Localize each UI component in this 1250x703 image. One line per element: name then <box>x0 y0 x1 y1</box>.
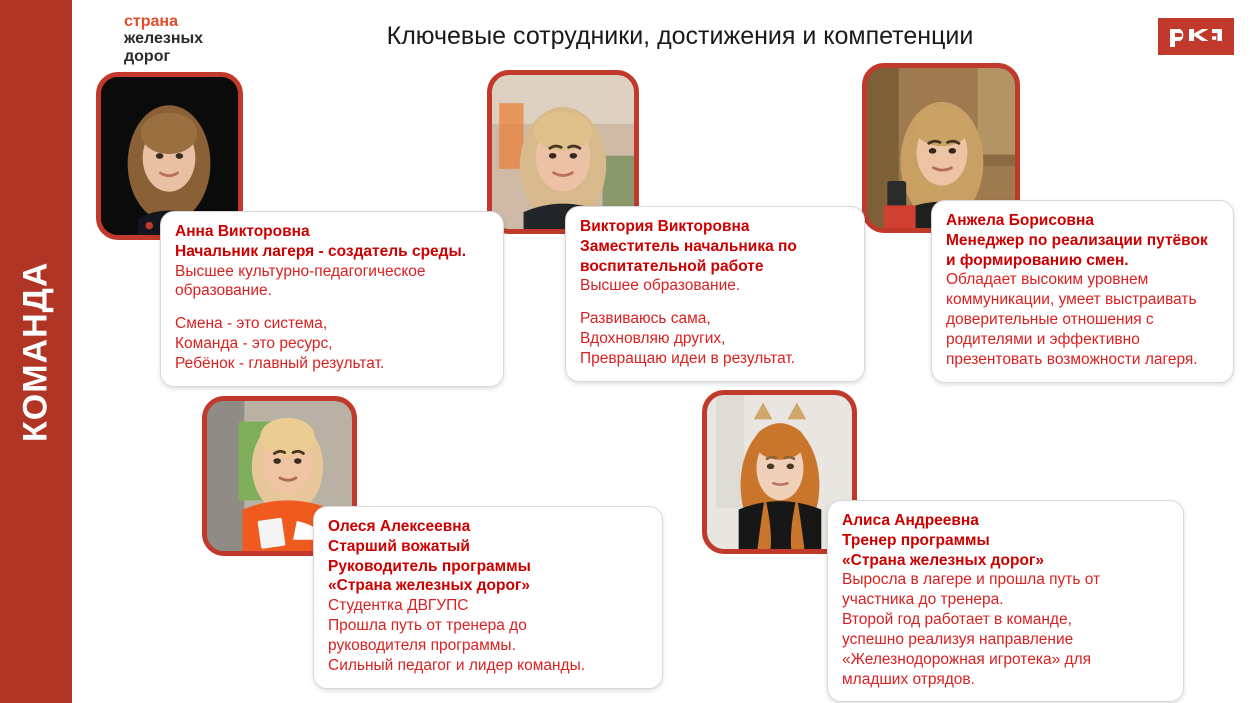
program-logo-line-3: дорог <box>124 48 203 65</box>
card-body-line: Ребёнок - главный результат. <box>175 354 489 374</box>
card-body-line: руководителя программы. <box>328 636 648 656</box>
card-body-line: коммуникации, умеет выстраивать <box>946 290 1219 310</box>
person-card-anna: Анна ВикторовнаНачальник лагеря - создат… <box>160 211 504 387</box>
card-body-line: родителями и эффективно <box>946 330 1219 350</box>
card-body-line: Высшее образование. <box>580 276 850 296</box>
card-body-line: младших отрядов. <box>842 670 1169 690</box>
presentation-slide: КОМАНДА страна железных дорог Ключевые с… <box>0 0 1250 703</box>
card-heading-line: Руководитель программы <box>328 557 648 577</box>
card-body-line: Развиваюсь сама, <box>580 309 850 329</box>
card-heading-line: Алиса Андреевна <box>842 511 1169 531</box>
card-body-line: Смена - это система, <box>175 314 489 334</box>
card-body-line: Студентка ДВГУПС <box>328 596 648 616</box>
card-body-line: Сильный педагог и лидер команды. <box>328 656 648 676</box>
card-line-spacer <box>175 301 489 314</box>
card-heading-line: Анжела Борисовна <box>946 211 1219 231</box>
card-line-spacer <box>580 296 850 309</box>
person-card-victoria: Виктория ВикторовнаЗаместитель начальник… <box>565 206 865 382</box>
program-logo-line-1: страна <box>124 13 203 30</box>
card-heading-line: Виктория Викторовна <box>580 217 850 237</box>
rzd-logo <box>1158 18 1234 55</box>
card-body-line: «Железнодорожная игротека» для <box>842 650 1169 670</box>
card-body-line: Обладает высоким уровнем <box>946 270 1219 290</box>
card-body-line: участника до тренера. <box>842 590 1169 610</box>
person-card-olesya: Олеся АлексеевнаСтарший вожатыйРуководит… <box>313 506 663 689</box>
card-heading-line: «Страна железных дорог» <box>328 576 648 596</box>
card-heading-line: Олеся Алексеевна <box>328 517 648 537</box>
card-heading-line: воспитательной работе <box>580 257 850 277</box>
card-heading-line: Менеджер по реализации путёвок <box>946 231 1219 251</box>
program-logo: страна железных дорог <box>124 13 203 65</box>
card-body-line: доверительные отношения с <box>946 310 1219 330</box>
card-body-line: Команда - это ресурс, <box>175 334 489 354</box>
person-card-alisa: Алиса АндреевнаТренер программы«Страна ж… <box>827 500 1184 702</box>
program-logo-line-2: железных <box>124 30 203 47</box>
card-heading-line: Начальник лагеря - создатель среды. <box>175 242 489 262</box>
card-heading-line: Анна Викторовна <box>175 222 489 242</box>
card-heading-line: Старший вожатый <box>328 537 648 557</box>
card-body-line: Вдохновляю других, <box>580 329 850 349</box>
card-body-line: образование. <box>175 281 489 301</box>
card-heading-line: «Страна железных дорог» <box>842 551 1169 571</box>
card-body-line: Превращаю идеи в результат. <box>580 349 850 369</box>
card-body-line: Прошла путь от тренера до <box>328 616 648 636</box>
card-body-line: Высшее культурно-педагогическое <box>175 262 489 282</box>
card-body-line: презентовать возможности лагеря. <box>946 350 1219 370</box>
card-heading-line: Заместитель начальника по <box>580 237 850 257</box>
card-heading-line: и формированию смен. <box>946 251 1219 271</box>
side-vertical-label: КОМАНДА <box>0 0 72 703</box>
page-title: Ключевые сотрудники, достижения и компет… <box>330 22 1030 51</box>
person-card-anzhela: Анжела БорисовнаМенеджер по реализации п… <box>931 200 1234 383</box>
card-heading-line: Тренер программы <box>842 531 1169 551</box>
card-body-line: успешно реализуя направление <box>842 630 1169 650</box>
card-body-line: Второй год работает в команде, <box>842 610 1169 630</box>
card-body-line: Выросла в лагере и прошла путь от <box>842 570 1169 590</box>
